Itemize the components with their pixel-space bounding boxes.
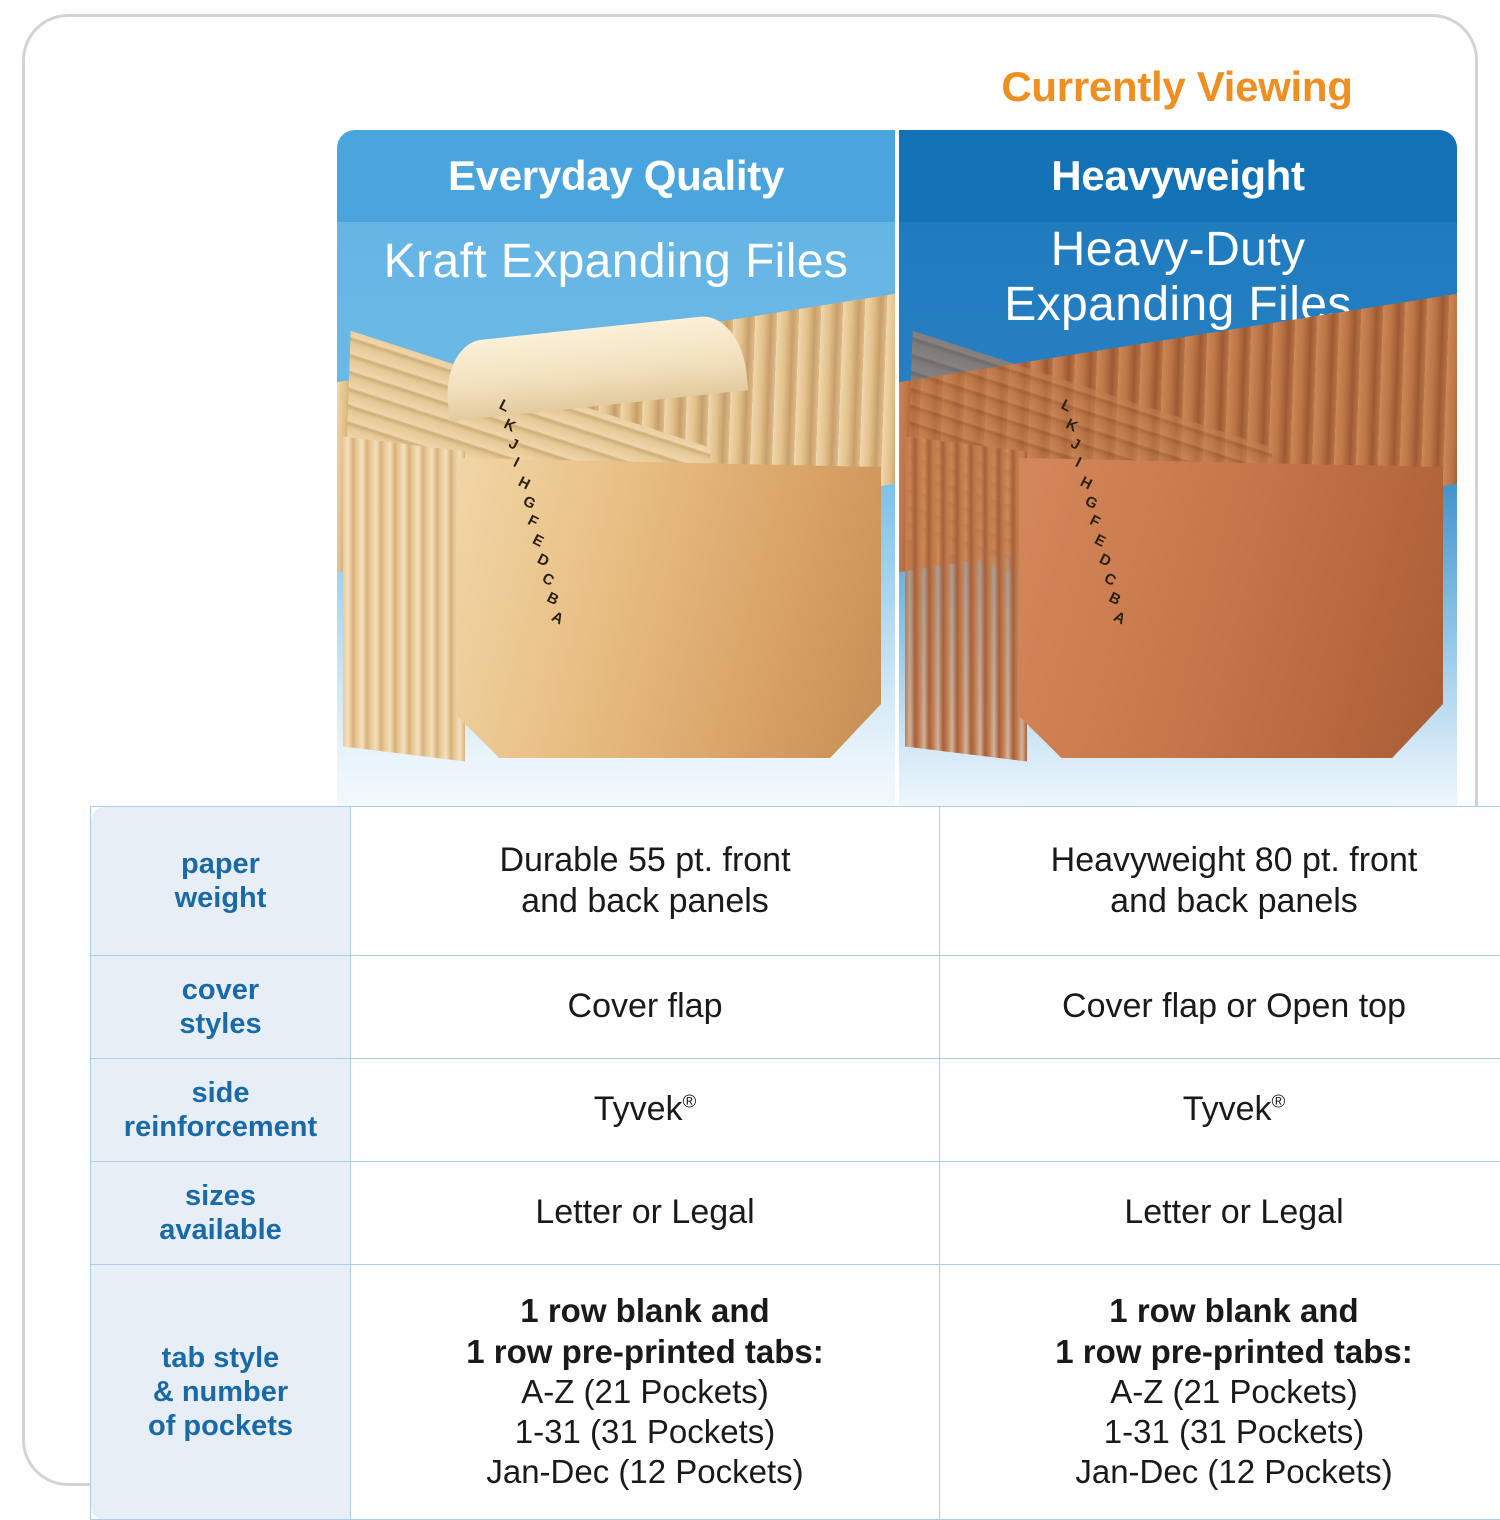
table-row-cover-styles: cover styles Cover flap Cover flap or Op… xyxy=(91,956,1500,1059)
file-tab-letter: E xyxy=(530,531,547,551)
row-label-line1: tab style xyxy=(97,1341,344,1375)
file-tab-letter: D xyxy=(1096,550,1113,570)
product-title-everyday-quality: Kraft Expanding Files xyxy=(337,234,895,289)
product-comparison-table: paper weight Durable 55 pt. front and ba… xyxy=(90,806,1500,1520)
product-header-heavyweight: Heavyweight xyxy=(899,130,1457,222)
row-label-line2: styles xyxy=(97,1007,344,1041)
cell-everyday-sizes-available: Letter or Legal xyxy=(351,1162,940,1265)
cell-line1: Cover flap xyxy=(365,986,925,1027)
product-title-line1: Heavy-Duty xyxy=(899,222,1457,277)
row-label-line2: weight xyxy=(97,881,344,915)
row-label-line1: paper xyxy=(97,847,344,881)
row-label-cover-styles: cover styles xyxy=(91,956,351,1059)
tyvek-text: Tyvek xyxy=(1183,1090,1272,1128)
file-tab-letter: J xyxy=(1068,435,1083,454)
file-tab-letter: C xyxy=(539,570,556,590)
kraft-expanding-file-photo: LKJIHGFEDCBA xyxy=(337,336,895,806)
file-tab-letter: F xyxy=(1087,512,1103,531)
file-tab-letter: G xyxy=(520,493,538,513)
cell-sub-line2: 1-31 (31 Pockets) xyxy=(365,1412,925,1452)
file-tab-letter: H xyxy=(515,473,532,493)
cell-line2: and back panels xyxy=(954,881,1500,922)
file-tab-letter: B xyxy=(544,589,561,609)
table-row-sizes-available: sizes available Letter or Legal Letter o… xyxy=(91,1162,1500,1265)
file-tab-letter: A xyxy=(549,608,566,628)
cell-sub-line1: A-Z (21 Pockets) xyxy=(365,1372,925,1412)
cell-bold-line1: 1 row blank and xyxy=(365,1291,925,1331)
row-label-paper-weight: paper weight xyxy=(91,807,351,956)
cell-sub-line3: Jan-Dec (12 Pockets) xyxy=(954,1452,1500,1492)
file-tab-letter: H xyxy=(1077,473,1094,493)
cell-line1: Durable 55 pt. front xyxy=(365,840,925,881)
cell-heavyweight-side-reinforcement: Tyvek® xyxy=(940,1059,1500,1162)
row-label-line2: available xyxy=(97,1213,344,1247)
cell-heavyweight-cover-styles: Cover flap or Open top xyxy=(940,956,1500,1059)
tyvek-text: Tyvek xyxy=(594,1090,683,1128)
file-tab-letter: I xyxy=(1073,454,1084,471)
file-tab-letter: F xyxy=(525,512,541,531)
cell-everyday-side-reinforcement: Tyvek® xyxy=(351,1059,940,1162)
heavy-duty-expanding-file-photo: LKJIHGFEDCBA xyxy=(899,336,1457,806)
row-label-line1: cover xyxy=(97,973,344,1007)
cell-sub-line1: A-Z (21 Pockets) xyxy=(954,1372,1500,1412)
cell-line1: Tyvek® xyxy=(954,1089,1500,1130)
cell-line1: Cover flap or Open top xyxy=(954,986,1500,1027)
cell-everyday-tab-style: 1 row blank and 1 row pre-printed tabs: … xyxy=(351,1265,940,1520)
cell-bold-line1: 1 row blank and xyxy=(954,1291,1500,1331)
file-tab-letter: C xyxy=(1101,570,1118,590)
cell-bold-line2: 1 row pre-printed tabs: xyxy=(954,1332,1500,1372)
file-tab-letter: J xyxy=(506,435,521,454)
cell-line1: Tyvek® xyxy=(365,1089,925,1130)
file-tab-letter: D xyxy=(534,550,551,570)
product-panel-everyday-quality[interactable]: Everyday Quality Kraft Expanding Files L… xyxy=(337,130,895,806)
cell-bold-line2: 1 row pre-printed tabs: xyxy=(365,1332,925,1372)
file-tab-letter: K xyxy=(501,415,518,435)
cell-line2: and back panels xyxy=(365,881,925,922)
cell-heavyweight-tab-style: 1 row blank and 1 row pre-printed tabs: … xyxy=(940,1265,1500,1520)
table-row-tab-style: tab style & number of pockets 1 row blan… xyxy=(91,1265,1500,1520)
file-tab-letter: E xyxy=(1092,531,1109,551)
cell-sub-line3: Jan-Dec (12 Pockets) xyxy=(365,1452,925,1492)
cell-line1: Letter or Legal xyxy=(365,1192,925,1233)
table-row-paper-weight: paper weight Durable 55 pt. front and ba… xyxy=(91,807,1500,956)
file-tab-letter: A xyxy=(1111,608,1128,628)
registered-mark-icon: ® xyxy=(683,1091,697,1112)
product-panel-heavyweight[interactable]: Heavyweight Heavy-Duty Expanding Files L… xyxy=(899,130,1457,806)
table-row-side-reinforcement: side reinforcement Tyvek® Tyvek® xyxy=(91,1059,1500,1162)
cell-everyday-cover-styles: Cover flap xyxy=(351,956,940,1059)
row-label-side-reinforcement: side reinforcement xyxy=(91,1059,351,1162)
file-tab-letter: I xyxy=(511,454,522,471)
cell-everyday-paper-weight: Durable 55 pt. front and back panels xyxy=(351,807,940,956)
row-label-line1: side xyxy=(97,1076,344,1110)
cell-heavyweight-sizes-available: Letter or Legal xyxy=(940,1162,1500,1265)
row-label-tab-style: tab style & number of pockets xyxy=(91,1265,351,1520)
cell-line1: Heavyweight 80 pt. front xyxy=(954,840,1500,881)
product-panels: Everyday Quality Kraft Expanding Files L… xyxy=(337,130,1457,806)
row-label-sizes-available: sizes available xyxy=(91,1162,351,1265)
row-label-line2: & number xyxy=(97,1375,344,1409)
file-tab-letter: K xyxy=(1063,415,1080,435)
row-label-line1: sizes xyxy=(97,1179,344,1213)
cell-heavyweight-paper-weight: Heavyweight 80 pt. front and back panels xyxy=(940,807,1500,956)
comparison-card: Currently Viewing Everyday Quality Kraft… xyxy=(22,14,1478,1486)
product-header-everyday-quality: Everyday Quality xyxy=(337,130,895,222)
registered-mark-icon: ® xyxy=(1272,1091,1286,1112)
cell-line1: Letter or Legal xyxy=(954,1192,1500,1233)
cell-sub-line2: 1-31 (31 Pockets) xyxy=(954,1412,1500,1452)
file-tab-letter: G xyxy=(1082,493,1100,513)
row-label-line2: reinforcement xyxy=(97,1110,344,1144)
currently-viewing-banner: Currently Viewing xyxy=(897,63,1457,111)
row-label-line3: of pockets xyxy=(97,1409,344,1443)
file-tab-letter: B xyxy=(1106,589,1123,609)
